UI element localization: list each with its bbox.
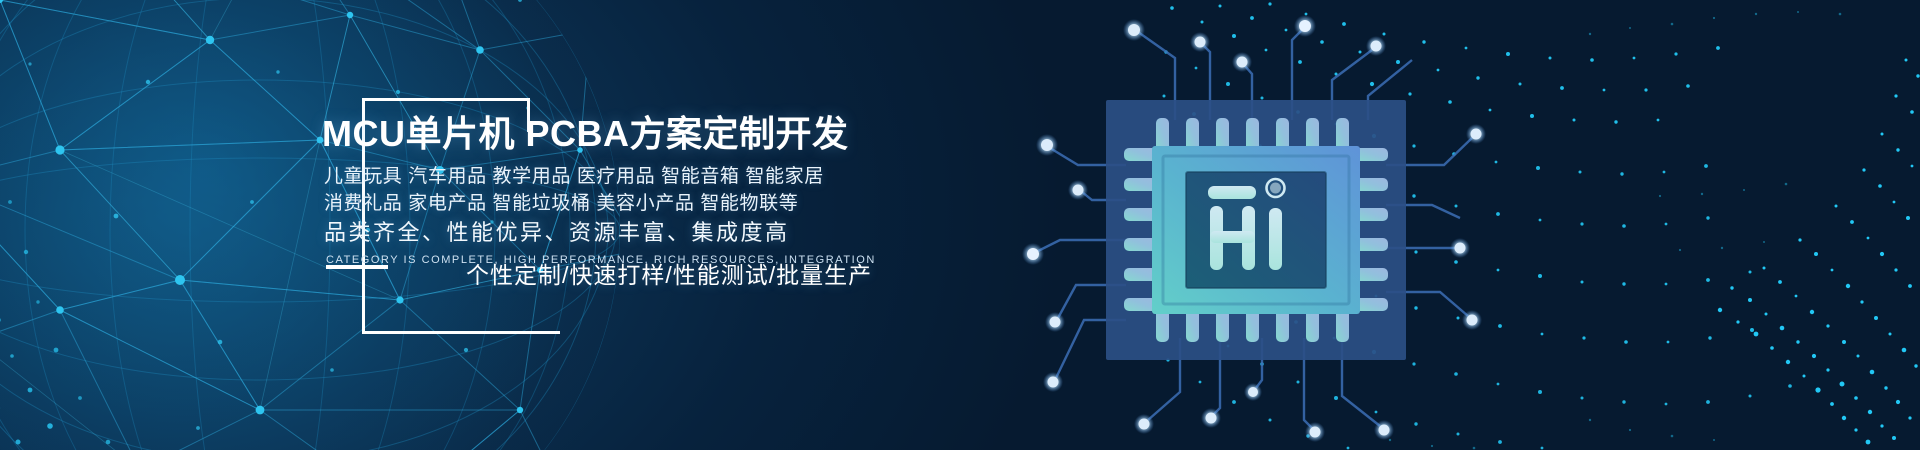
chip-logo-hi — [1208, 179, 1285, 270]
accent-dash — [326, 265, 388, 269]
category-line-2: 消费礼品 家电产品 智能垃圾桶 美容小产品 智能物联等 — [324, 190, 884, 217]
service-line: 个性定制/快速打样/性能测试/批量生产 — [466, 256, 872, 290]
category-list: 儿童玩具 汽车用品 教学用品 医疗用品 智能音箱 智能家居 消费礼品 家电产品 … — [324, 163, 884, 217]
feature-line: 品类齐全、性能优异、资源丰富、集成度高 — [324, 218, 790, 248]
category-line-1: 儿童玩具 汽车用品 教学用品 医疗用品 智能音箱 智能家居 — [324, 163, 884, 190]
bracket-bottom-edge — [362, 331, 560, 334]
banner-text-block: MCU单片机 PCBA方案定制开发 儿童玩具 汽车用品 教学用品 医疗用品 智能… — [300, 66, 900, 334]
bracket-top-edge — [362, 98, 530, 101]
promo-banner: MCU单片机 PCBA方案定制开发 儿童玩具 汽车用品 教学用品 医疗用品 智能… — [0, 0, 1920, 450]
banner-headline: MCU单片机 PCBA方案定制开发 — [322, 116, 849, 152]
circuit-chip-graphic — [1020, 0, 1490, 450]
